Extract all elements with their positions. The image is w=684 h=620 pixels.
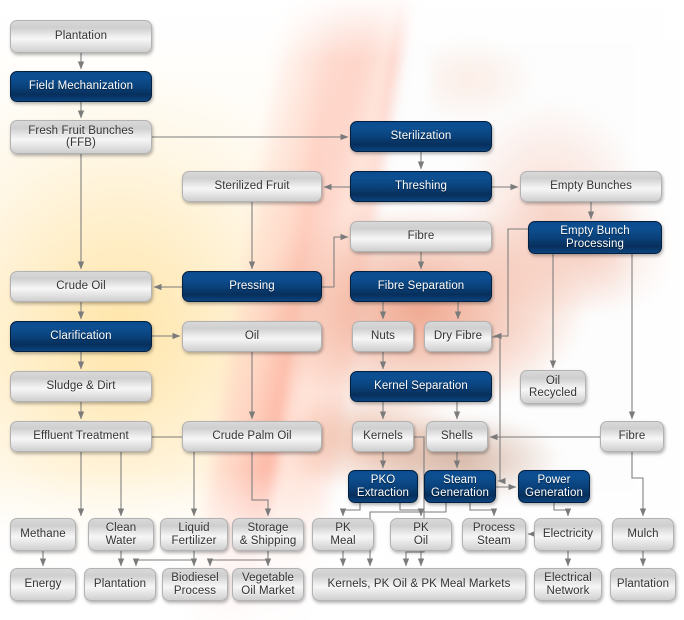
node-pk-meal[interactable]: PK Meal <box>312 518 374 551</box>
node-fibre-separation[interactable]: Fibre Separation <box>350 271 492 302</box>
node-label: Sludge & Dirt <box>46 380 115 393</box>
node-veg-oil-market[interactable]: Vegetable Oil Market <box>232 568 304 601</box>
node-clean-water[interactable]: Clean Water <box>88 518 154 551</box>
node-label: Steam Generation <box>431 474 489 499</box>
node-markets[interactable]: Kernels, PK Oil & PK Meal Markets <box>312 568 526 601</box>
node-plantation-3[interactable]: Plantation <box>610 568 676 601</box>
node-label: Plantation <box>55 30 107 43</box>
node-label: Liquid Fertilizer <box>171 522 216 547</box>
node-oil[interactable]: Oil <box>182 321 322 352</box>
node-eb-processing[interactable]: Empty Bunch Processing <box>528 221 662 254</box>
node-label: Clean Water <box>106 522 137 547</box>
node-process-steam[interactable]: Process Steam <box>462 518 526 551</box>
node-dry-fibre[interactable]: Dry Fibre <box>424 321 492 352</box>
node-field-mech[interactable]: Field Mechanization <box>10 71 152 102</box>
node-plantation-2[interactable]: Plantation <box>84 568 156 601</box>
node-label: Vegetable Oil Market <box>241 572 294 597</box>
node-label: Clarification <box>50 330 111 343</box>
node-label: Electricity <box>543 528 593 541</box>
node-label: Crude Oil <box>56 280 105 293</box>
node-label: Storage & Shipping <box>240 522 297 547</box>
node-label: Sterilized Fruit <box>214 180 289 193</box>
node-methane[interactable]: Methane <box>10 518 76 551</box>
node-nuts[interactable]: Nuts <box>352 321 414 352</box>
node-label: Fresh Fruit Bunches (FFB) <box>28 125 133 150</box>
node-steam-generation[interactable]: Steam Generation <box>424 470 496 503</box>
node-threshing[interactable]: Threshing <box>350 171 492 202</box>
node-pk-oil[interactable]: PK Oil <box>390 518 452 551</box>
node-label: Nuts <box>371 330 395 343</box>
node-label: Threshing <box>395 180 447 193</box>
node-storage-shipping[interactable]: Storage & Shipping <box>232 518 304 551</box>
node-clarification[interactable]: Clarification <box>10 321 152 352</box>
node-label: Empty Bunch Processing <box>560 225 630 250</box>
node-label: Biodiesel Process <box>171 572 219 597</box>
node-label: Kernels <box>363 430 403 443</box>
node-label: Kernels, PK Oil & PK Meal Markets <box>328 578 511 591</box>
node-label: Oil Recycled <box>529 375 577 400</box>
node-crude-palm-oil[interactable]: Crude Palm Oil <box>182 421 322 452</box>
node-oil-recycled[interactable]: Oil Recycled <box>520 370 586 404</box>
node-label: Empty Bunches <box>550 180 632 193</box>
node-label: Energy <box>24 578 61 591</box>
node-effluent[interactable]: Effluent Treatment <box>10 421 152 452</box>
node-label: Plantation <box>617 578 669 591</box>
node-sterilization[interactable]: Sterilization <box>350 121 492 152</box>
node-label: Process Steam <box>473 522 515 547</box>
node-plantation[interactable]: Plantation <box>10 20 152 53</box>
node-empty-bunches[interactable]: Empty Bunches <box>520 171 662 202</box>
node-kernel-separation[interactable]: Kernel Separation <box>350 371 492 402</box>
node-electricity[interactable]: Electricity <box>534 518 602 551</box>
node-label: Methane <box>20 528 65 541</box>
node-pressing[interactable]: Pressing <box>182 271 322 302</box>
node-label: Shells <box>441 430 473 443</box>
node-label: Crude Palm Oil <box>212 430 291 443</box>
node-label: Fibre Separation <box>378 280 465 293</box>
node-label: Mulch <box>627 528 658 541</box>
node-electrical-network[interactable]: Electrical Network <box>534 568 602 601</box>
node-crude-oil[interactable]: Crude Oil <box>10 271 152 302</box>
node-label: Kernel Separation <box>374 380 468 393</box>
flowchart-canvas: PlantationField MechanizationFresh Fruit… <box>0 0 684 620</box>
node-fibre-right[interactable]: Fibre <box>600 421 664 452</box>
node-label: Sterilization <box>391 130 452 143</box>
node-label: Field Mechanization <box>29 80 133 93</box>
node-label: Pressing <box>229 280 275 293</box>
node-label: Plantation <box>94 578 146 591</box>
node-fibre-top[interactable]: Fibre <box>350 221 492 252</box>
node-label: Oil <box>245 330 259 343</box>
node-label: Fibre <box>619 430 646 443</box>
node-label: PKO Extraction <box>357 474 409 499</box>
node-sterilized-fruit[interactable]: Sterilized Fruit <box>182 171 322 202</box>
node-power-generation[interactable]: Power Generation <box>518 470 590 503</box>
node-label: Effluent Treatment <box>33 430 129 443</box>
node-pko-extraction[interactable]: PKO Extraction <box>348 470 418 503</box>
node-liquid-fertilizer[interactable]: Liquid Fertilizer <box>160 518 228 551</box>
node-label: Dry Fibre <box>434 330 482 343</box>
node-energy[interactable]: Energy <box>10 568 76 601</box>
node-ffb[interactable]: Fresh Fruit Bunches (FFB) <box>10 120 152 154</box>
node-mulch[interactable]: Mulch <box>612 518 674 551</box>
node-shells[interactable]: Shells <box>426 421 488 452</box>
node-label: PK Oil <box>413 522 429 547</box>
node-label: Electrical Network <box>544 572 592 597</box>
node-kernels[interactable]: Kernels <box>352 421 414 452</box>
node-biodiesel[interactable]: Biodiesel Process <box>162 568 228 601</box>
node-label: Fibre <box>408 230 435 243</box>
node-label: Power Generation <box>525 474 583 499</box>
node-sludge-dirt[interactable]: Sludge & Dirt <box>10 371 152 402</box>
node-label: PK Meal <box>330 522 355 547</box>
